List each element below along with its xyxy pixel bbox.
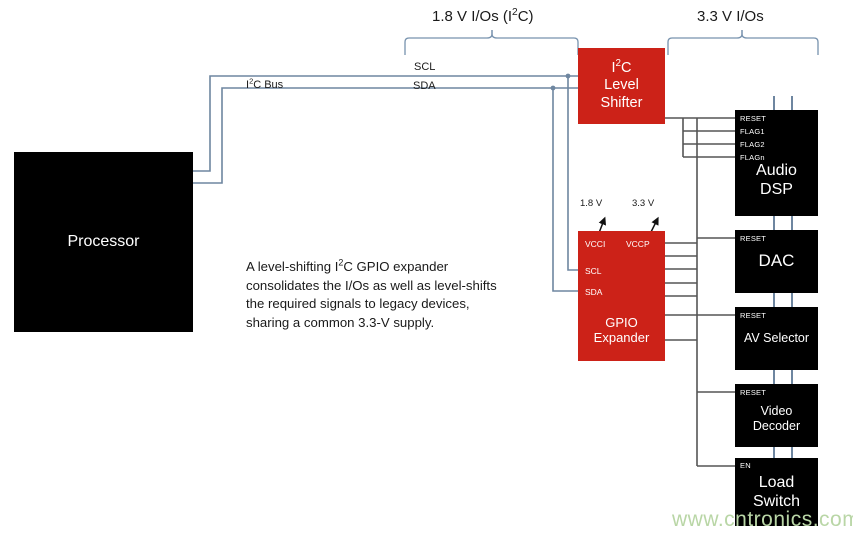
- signal-label-sda: SDA: [413, 80, 436, 92]
- gpio-line2: Expander: [594, 330, 650, 345]
- diagram-canvas: 1.8 V I/Os (I2C) 3.3 V I/Os I2C Bus SCL …: [0, 0, 853, 535]
- block-gpio-expander-label: GPIO Expander: [578, 315, 665, 346]
- group-label-3v3: 3.3 V I/Os: [697, 8, 764, 25]
- level-shifter-line2: Level: [604, 77, 639, 93]
- audio-dsp-pin-flag1: FLAG1: [740, 128, 765, 136]
- wire-junction-dots: [551, 74, 571, 91]
- bracket-1v8: [405, 30, 578, 55]
- block-dac[interactable]: RESET DAC: [735, 230, 818, 293]
- block-gpio-expander[interactable]: VCCI VCCP SCL SDA GPIO Expander: [578, 231, 665, 361]
- block-audio-dsp-label: Audio DSP: [735, 162, 818, 200]
- rail-label-1v8: 1.8 V: [580, 198, 602, 209]
- rail-label-3v3: 3.3 V: [632, 198, 654, 209]
- block-av-selector[interactable]: RESET AV Selector: [735, 307, 818, 370]
- audio-dsp-line1: Audio: [756, 162, 797, 179]
- watermark-text: www.cntronics.com: [672, 508, 853, 532]
- video-decoder-pin-reset: RESET: [740, 389, 766, 397]
- av-selector-pin-reset: RESET: [740, 312, 766, 320]
- bracket-3v3: [668, 30, 818, 55]
- block-processor[interactable]: Processor: [14, 152, 193, 332]
- i2c-bus-wires: [193, 76, 578, 183]
- gpio-pin-sda: SDA: [585, 288, 602, 297]
- block-audio-dsp[interactable]: RESET FLAG1 FLAG2 FLAGn Audio DSP: [735, 110, 818, 216]
- audio-dsp-pin-flag2: FLAG2: [740, 141, 765, 149]
- video-decoder-line1: Video: [761, 404, 793, 418]
- gpio-pin-scl: SCL: [585, 267, 602, 276]
- block-av-selector-label: AV Selector: [744, 331, 809, 346]
- load-switch-pin-en: EN: [740, 462, 751, 470]
- gpio-pin-vcci: VCCI: [585, 240, 605, 249]
- gpio-pin-vccp: VCCP: [626, 240, 650, 249]
- audio-dsp-pin-wires: [683, 118, 735, 157]
- dac-pin-reset: RESET: [740, 235, 766, 243]
- block-dac-label: DAC: [759, 251, 795, 271]
- signal-label-scl: SCL: [414, 61, 435, 73]
- i2c-bus-label: I2C Bus: [246, 79, 283, 91]
- block-level-shifter[interactable]: I2C Level Shifter: [578, 48, 665, 124]
- audio-dsp-pin-flagn: FLAGn: [740, 154, 765, 162]
- block-processor-label: Processor: [67, 233, 139, 252]
- gpio-output-wires: [665, 243, 697, 340]
- description-text: A level-shifting I2C GPIO expander conso…: [246, 258, 498, 333]
- block-video-decoder-label: Video Decoder: [735, 404, 818, 434]
- level-shifter-line3: Shifter: [601, 95, 643, 111]
- group-label-1v8: 1.8 V I/Os (I2C): [432, 8, 534, 25]
- level-shifter-output-wires: [665, 118, 697, 466]
- load-switch-line1: Load: [759, 474, 795, 491]
- block-video-decoder[interactable]: RESET Video Decoder: [735, 384, 818, 447]
- gpio-i2c-branch-wires: [553, 76, 578, 291]
- video-decoder-line2: Decoder: [753, 419, 800, 433]
- block-level-shifter-label: I2C Level Shifter: [601, 60, 643, 111]
- block-load-switch-label: Load Switch: [735, 474, 818, 512]
- gpio-line1: GPIO: [605, 315, 638, 330]
- peripheral-reset-wires: [697, 238, 735, 466]
- audio-dsp-pin-reset: RESET: [740, 115, 766, 123]
- audio-dsp-line2: DSP: [760, 181, 793, 198]
